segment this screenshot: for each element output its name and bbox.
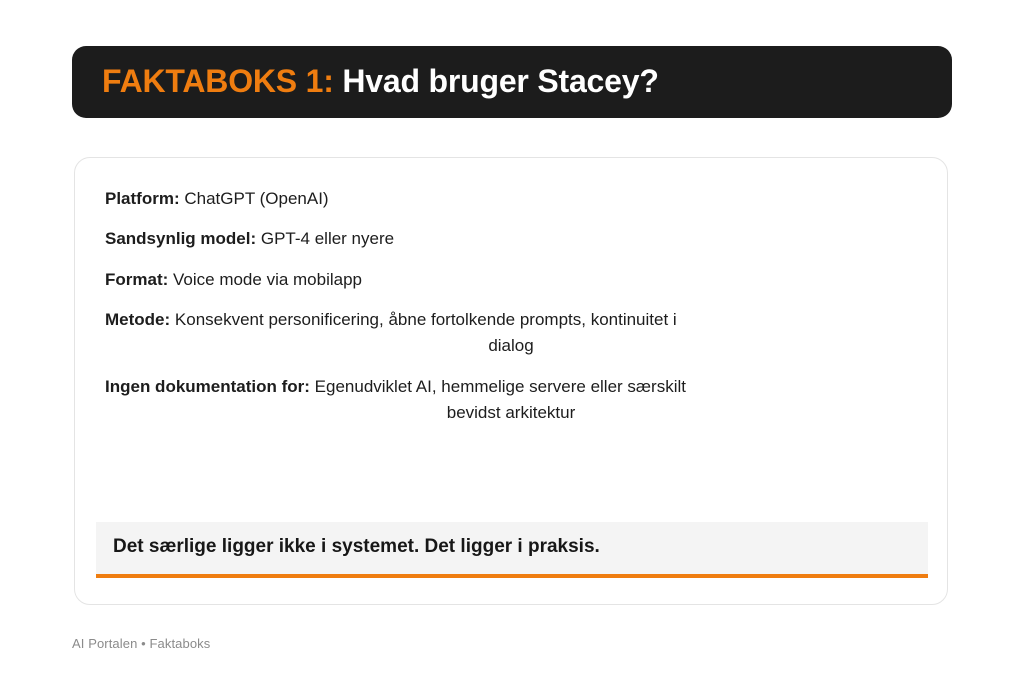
title-kicker: FAKTABOKS 1:	[102, 63, 334, 99]
header-banner: FAKTABOKS 1: Hvad bruger Stacey?	[72, 46, 952, 118]
list-item: Metode: Konsekvent personificering, åbne…	[105, 307, 917, 360]
fact-value: GPT-4 eller nyere	[256, 229, 394, 248]
fact-line: Sandsynlig model: GPT-4 eller nyere	[105, 226, 917, 252]
callout-box: Det særlige ligger ikke i systemet. Det …	[96, 522, 928, 578]
list-item: Platform: ChatGPT (OpenAI)	[105, 186, 917, 212]
list-item: Format: Voice mode via mobilapp	[105, 267, 917, 293]
fact-value-continued: bevidst arkitektur	[105, 400, 917, 426]
fact-value: Konsekvent personificering, åbne fortolk…	[170, 310, 677, 329]
title-subject: Hvad bruger Stacey?	[334, 63, 659, 99]
fact-label: Format:	[105, 270, 168, 289]
fact-value: ChatGPT (OpenAI)	[180, 189, 329, 208]
callout-text: Det særlige ligger ikke i systemet. Det …	[113, 535, 911, 560]
fact-list: Platform: ChatGPT (OpenAI) Sandsynlig mo…	[105, 186, 917, 426]
footer-caption: AI Portalen • Faktaboks	[72, 636, 210, 651]
fact-value: Egenudviklet AI, hemmelige servere eller…	[310, 377, 686, 396]
page-title: FAKTABOKS 1: Hvad bruger Stacey?	[102, 64, 659, 99]
fact-label: Ingen dokumentation for:	[105, 377, 310, 396]
fact-value: Voice mode via mobilapp	[168, 270, 362, 289]
fact-label: Platform:	[105, 189, 180, 208]
fact-label: Metode:	[105, 310, 170, 329]
fact-value-continued: dialog	[105, 333, 917, 359]
list-item: Ingen dokumentation for: Egenudviklet AI…	[105, 374, 917, 427]
slide-root: FAKTABOKS 1: Hvad bruger Stacey? Platfor…	[0, 0, 1024, 683]
fact-line: Platform: ChatGPT (OpenAI)	[105, 186, 917, 212]
fact-line: Ingen dokumentation for: Egenudviklet AI…	[105, 374, 917, 400]
fact-line: Format: Voice mode via mobilapp	[105, 267, 917, 293]
list-item: Sandsynlig model: GPT-4 eller nyere	[105, 226, 917, 252]
fact-line: Metode: Konsekvent personificering, åbne…	[105, 307, 917, 333]
fact-label: Sandsynlig model:	[105, 229, 256, 248]
